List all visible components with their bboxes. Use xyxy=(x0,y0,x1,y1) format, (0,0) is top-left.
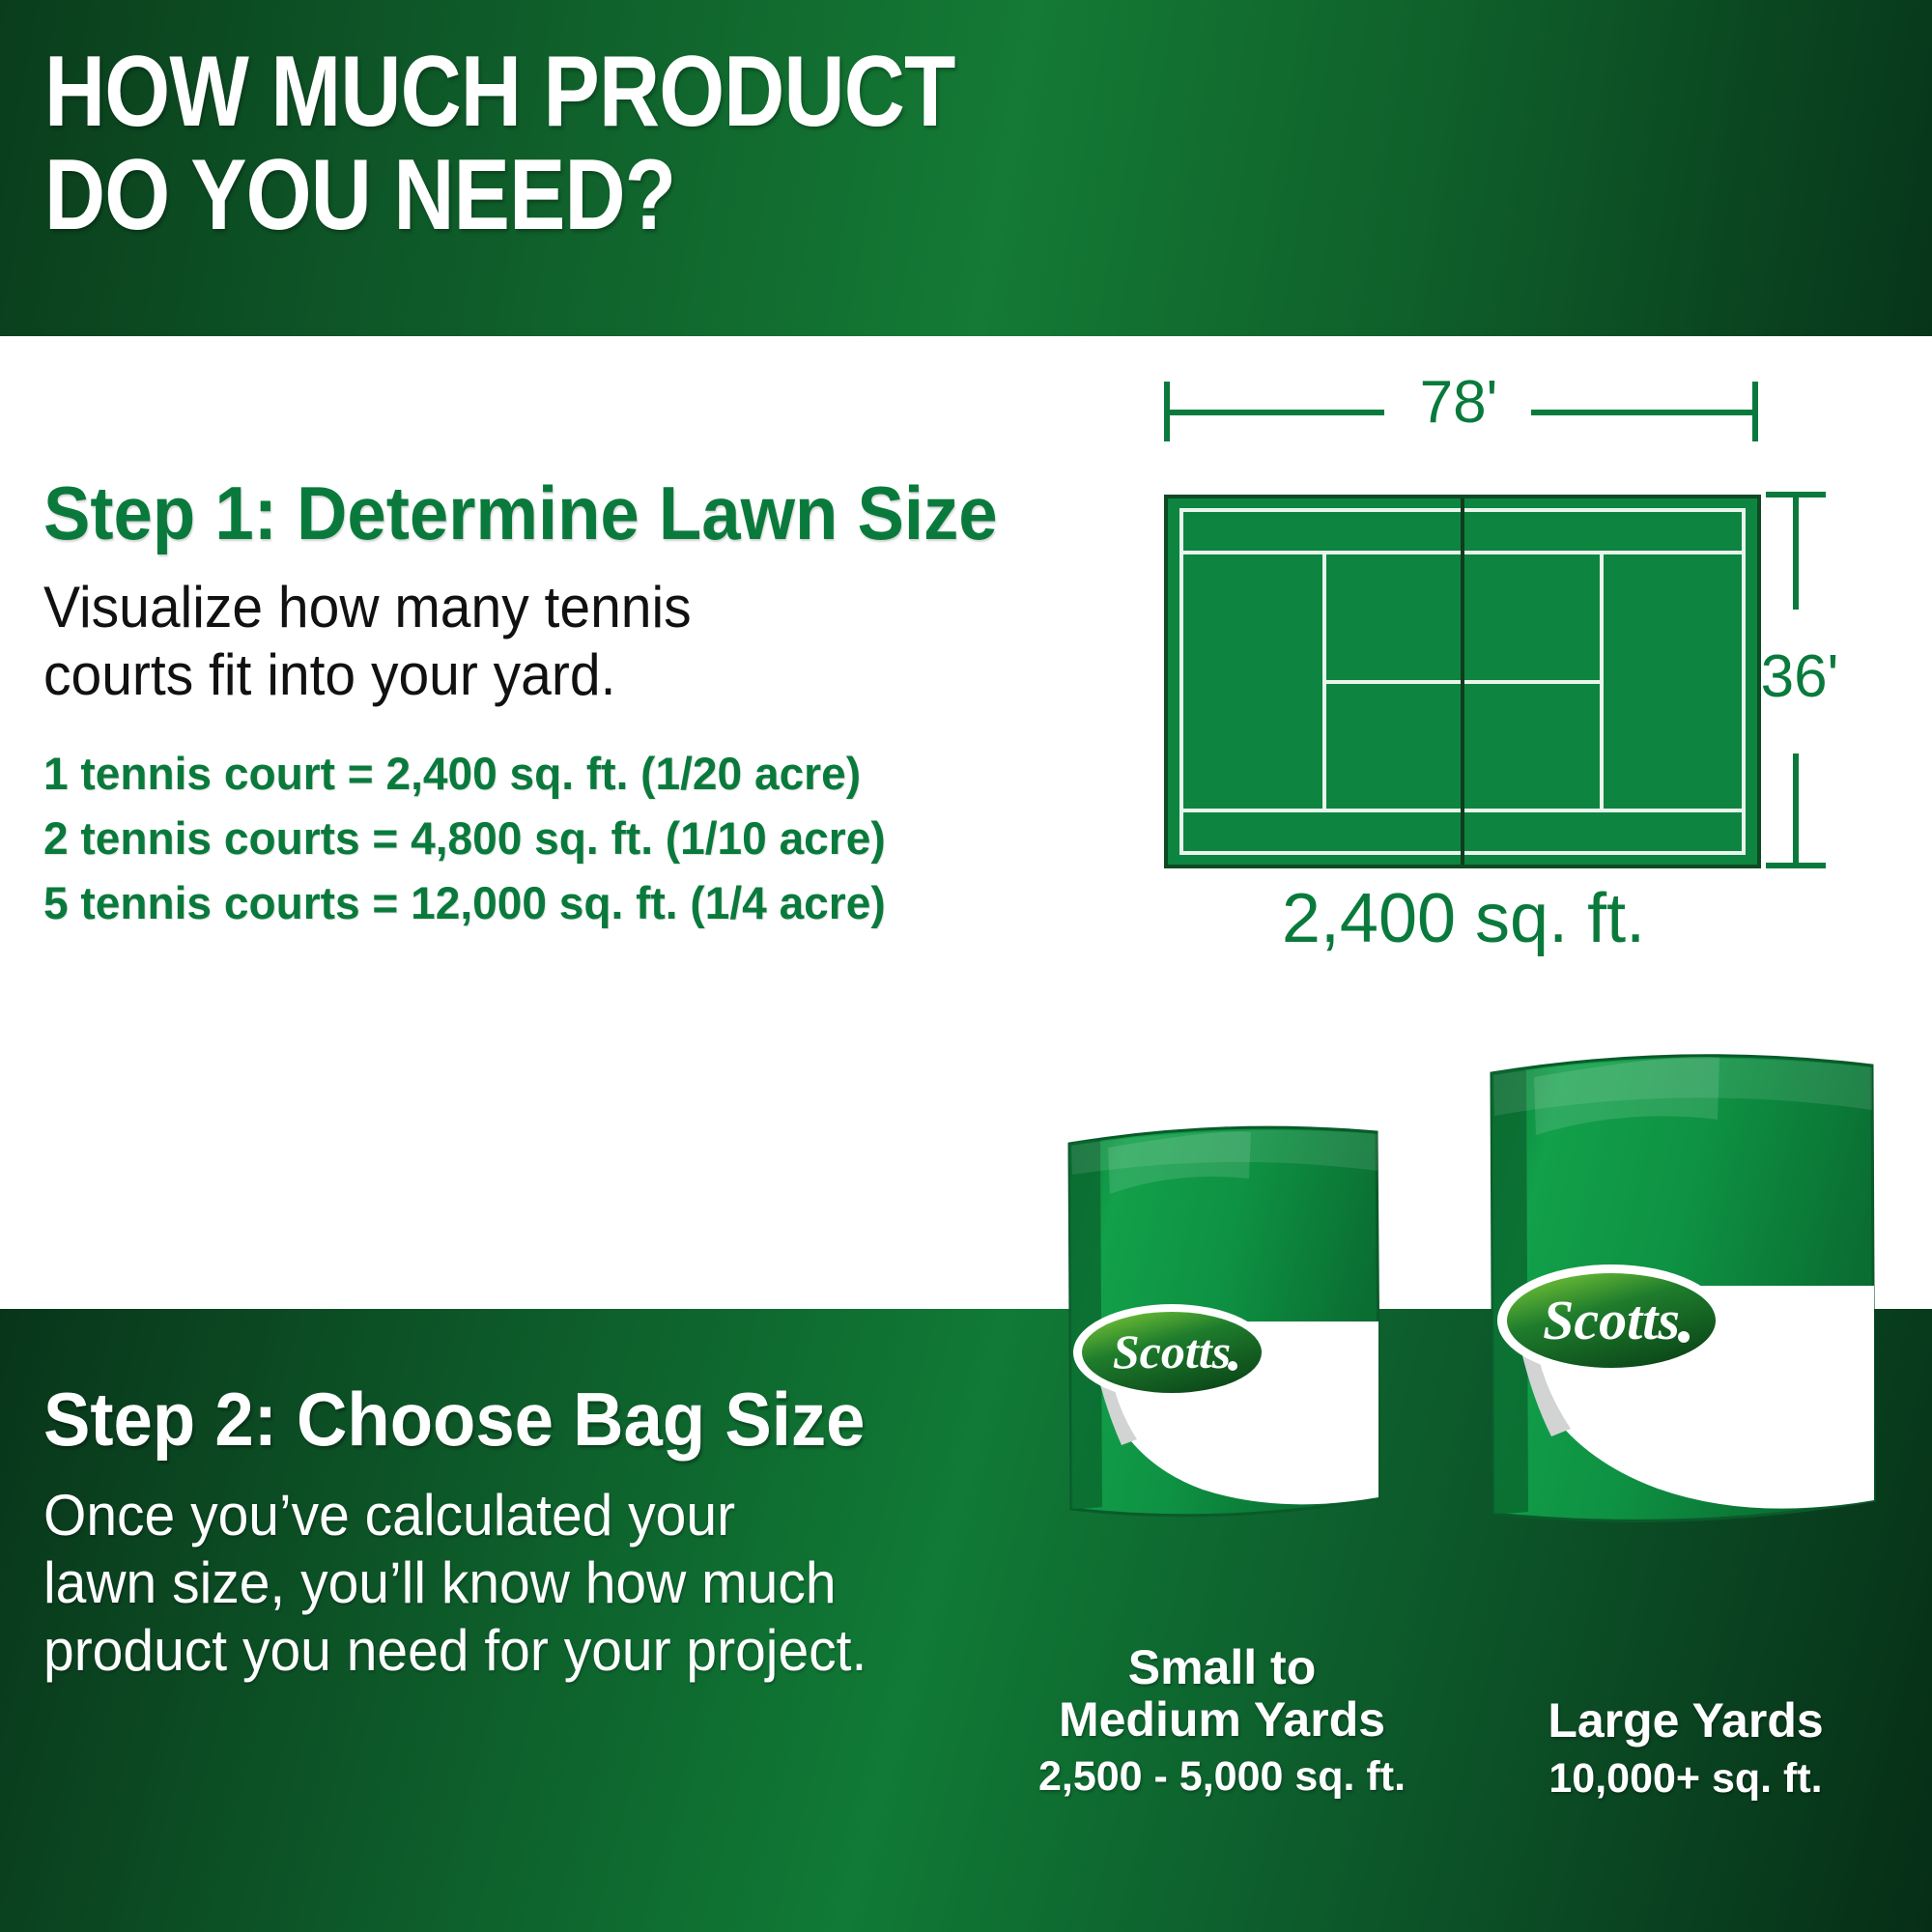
step-1-heading: Step 1: Determine Lawn Size xyxy=(43,475,1032,551)
product-bag-large[interactable]: Scotts xyxy=(1478,1038,1884,1546)
fact-line-1: 1 tennis court = 2,400 sq. ft. (1/20 acr… xyxy=(43,742,1085,807)
width-dim-label: 78' xyxy=(1406,373,1512,433)
bag-small-caption-title: Small to Medium Yards xyxy=(1000,1642,1444,1746)
page-title: HOW MUCH PRODUCT DO YOU NEED? xyxy=(44,41,1262,247)
bag-small-illustration: Scotts xyxy=(1058,1111,1386,1536)
width-dim-rule-right xyxy=(1531,410,1758,415)
court-area-label: 2,400 sq. ft. xyxy=(1169,884,1758,953)
fact-line-3: 5 tennis courts = 12,000 sq. ft. (1/4 ac… xyxy=(43,871,1085,936)
scotts-wordmark-small: Scotts xyxy=(1113,1324,1231,1378)
court-net-line xyxy=(1461,498,1464,865)
bag-large-caption: Large Yards 10,000+ sq. ft. xyxy=(1478,1695,1893,1809)
bag-small-caption-subtitle: 2,500 - 5,000 sq. ft. xyxy=(1000,1746,1444,1808)
step-2-section: Step 2: Choose Bag Size Once you’ve calc… xyxy=(43,1381,1087,1686)
product-bag-small[interactable]: Scotts xyxy=(1058,1111,1386,1536)
header-banner: HOW MUCH PRODUCT DO YOU NEED? xyxy=(0,0,1932,336)
court-line-right xyxy=(1742,508,1746,855)
scotts-wordmark-large: Scotts xyxy=(1543,1289,1680,1351)
step-2-heading: Step 2: Choose Bag Size xyxy=(43,1381,1013,1457)
tennis-court-surface xyxy=(1164,495,1761,868)
scotts-logo-large: Scotts xyxy=(1497,1264,1725,1377)
step-2-body-text: Once you’ve calculated your lawn size, y… xyxy=(43,1482,1035,1686)
bag-small-caption: Small to Medium Yards 2,500 - 5,000 sq. … xyxy=(1000,1642,1444,1808)
court-line-left xyxy=(1179,508,1183,855)
step-1-body-text: Visualize how many tennis courts fit int… xyxy=(43,574,1053,709)
tennis-court-diagram: 78' 36' xyxy=(1159,382,1777,961)
scotts-logo-small: Scotts xyxy=(1073,1304,1270,1401)
fact-line-2: 2 tennis courts = 4,800 sq. ft. (1/10 ac… xyxy=(43,807,1085,871)
step-1-section: Step 1: Determine Lawn Size Visualize ho… xyxy=(43,475,1106,936)
height-dim-label: 36' xyxy=(1756,647,1843,707)
bag-large-caption-title: Large Yards xyxy=(1478,1695,1893,1747)
tennis-court-fact-list: 1 tennis court = 2,400 sq. ft. (1/20 acr… xyxy=(43,742,1085,935)
width-dim-rule-left xyxy=(1164,410,1384,415)
height-dim-rule-bottom xyxy=(1793,753,1799,868)
bag-large-caption-subtitle: 10,000+ sq. ft. xyxy=(1478,1747,1893,1810)
height-dim-rule-top xyxy=(1793,492,1799,610)
bag-large-illustration: Scotts xyxy=(1478,1038,1884,1546)
